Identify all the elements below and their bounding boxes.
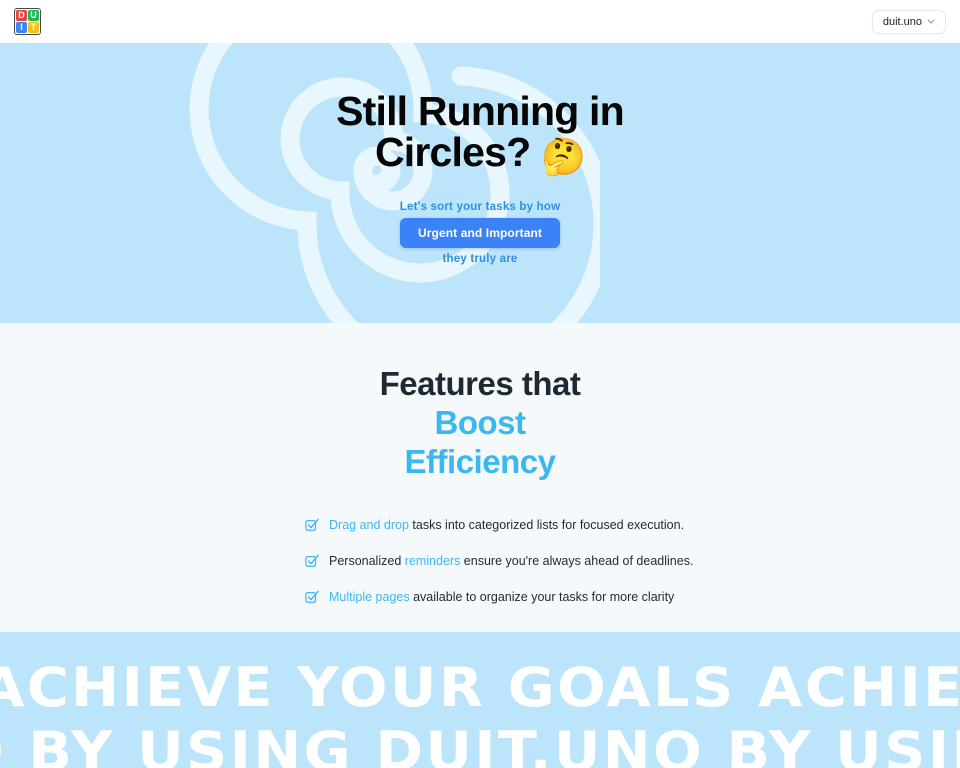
site-header: D U I T duit.uno bbox=[0, 0, 960, 43]
features-heading-dark: Features that bbox=[380, 365, 581, 402]
feature-highlight-3: Multiple pages bbox=[329, 590, 410, 604]
logo-cell-t: T bbox=[28, 22, 39, 33]
features-heading-blue-2: Efficiency bbox=[0, 443, 960, 482]
hero-subtitle-after: they truly are bbox=[442, 253, 517, 265]
account-dropdown[interactable]: duit.uno bbox=[872, 10, 946, 34]
checkbox-checked-icon bbox=[305, 554, 319, 573]
hero-subtitle-block: Let's sort your tasks by how Urgent and … bbox=[400, 201, 560, 265]
logo-cell-d: D bbox=[16, 10, 27, 21]
feature-highlight-1: Drag and drop bbox=[329, 518, 409, 532]
feature-highlight-2: reminders bbox=[405, 554, 461, 568]
features-list: Drag and drop tasks into categorized lis… bbox=[305, 518, 693, 609]
features-heading: Features that Boost Efficiency bbox=[0, 365, 960, 482]
hero-title: Still Running in Circles? 🤔 bbox=[336, 91, 624, 175]
duit-logo[interactable]: D U I T bbox=[14, 8, 41, 35]
feature-item-multiple-pages[interactable]: Multiple pages available to organize you… bbox=[305, 590, 693, 609]
marquee-section: ACHIEVE YOUR GOALS ACHIEVE YOUR GOALS AC… bbox=[0, 632, 960, 768]
thinking-face-emoji: 🤔 bbox=[541, 136, 585, 177]
feature-text-2: Personalized reminders ensure you're alw… bbox=[329, 554, 693, 569]
hero-subtitle-before: Let's sort your tasks by how bbox=[400, 201, 560, 213]
feature-rest-2: ensure you're always ahead of deadlines. bbox=[460, 554, 693, 568]
urgent-important-button[interactable]: Urgent and Important bbox=[400, 218, 560, 248]
chevron-down-icon bbox=[927, 18, 935, 26]
checkbox-checked-icon bbox=[305, 518, 319, 537]
feature-prefix-2: Personalized bbox=[329, 554, 405, 568]
hero-title-line2: Circles? bbox=[375, 129, 530, 175]
feature-item-reminders[interactable]: Personalized reminders ensure you're alw… bbox=[305, 554, 693, 573]
feature-text-3: Multiple pages available to organize you… bbox=[329, 590, 674, 605]
marquee-line-1: ACHIEVE YOUR GOALS ACHIEVE YOUR GOALS AC… bbox=[0, 656, 960, 719]
logo-cell-u: U bbox=[28, 10, 39, 21]
feature-rest-3: available to organize your tasks for mor… bbox=[410, 590, 675, 604]
marquee-line-2: DO BY USING DUIT.UNO BY USING DUIT.UNO B… bbox=[0, 720, 960, 768]
account-label: duit.uno bbox=[883, 16, 922, 28]
hero-section: Still Running in Circles? 🤔 Let's sort y… bbox=[0, 43, 960, 323]
feature-text-1: Drag and drop tasks into categorized lis… bbox=[329, 518, 684, 533]
landing-page: D U I T duit.uno Still Running in Circle… bbox=[0, 0, 960, 768]
feature-item-drag-drop[interactable]: Drag and drop tasks into categorized lis… bbox=[305, 518, 693, 537]
features-heading-blue-1: Boost bbox=[0, 404, 960, 443]
hero-title-line1: Still Running in bbox=[336, 88, 624, 134]
feature-rest-1: tasks into categorized lists for focused… bbox=[409, 518, 684, 532]
hero-content: Still Running in Circles? 🤔 Let's sort y… bbox=[0, 43, 960, 323]
features-section: Features that Boost Efficiency Drag and … bbox=[0, 323, 960, 632]
checkbox-checked-icon bbox=[305, 590, 319, 609]
logo-cell-i: I bbox=[16, 22, 27, 33]
